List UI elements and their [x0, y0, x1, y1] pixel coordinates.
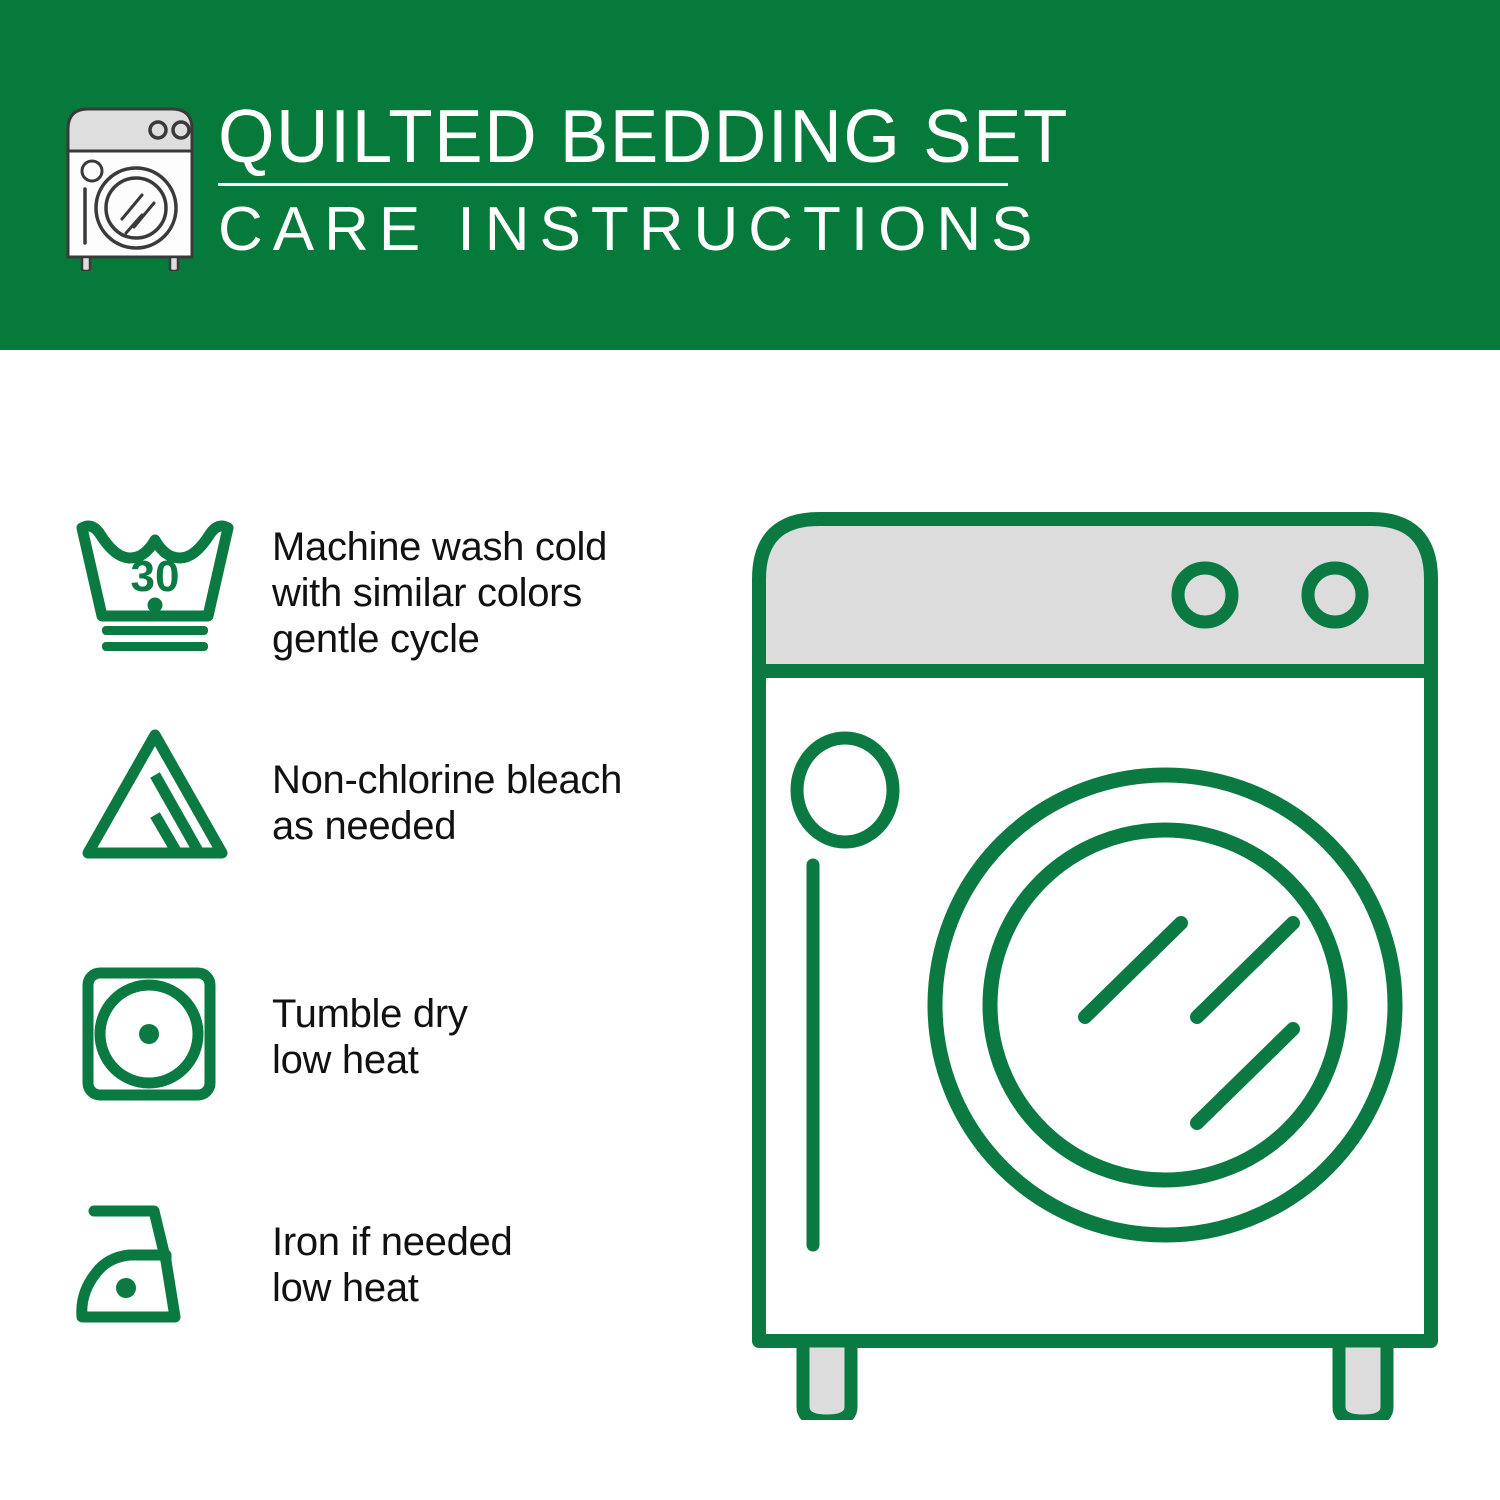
door-inner-ring	[990, 830, 1340, 1180]
care-instructions-page: QUILTED BEDDING SET CARE INSTRUCTIONS 30	[0, 0, 1500, 1500]
wash-temperature-label: 30	[131, 552, 180, 601]
page-title: QUILTED BEDDING SET	[218, 96, 994, 176]
tumble-dry-low-heat-icon	[70, 953, 240, 1111]
care-line: with similar colors	[272, 570, 607, 616]
door-outer-ring	[935, 775, 1395, 1235]
care-text-machine-wash: Machine wash cold with similar colors ge…	[272, 500, 607, 662]
bleach-triangle-non-chlorine-icon	[70, 715, 240, 873]
care-line: Iron if needed	[272, 1219, 512, 1265]
iron-low-heat-icon	[70, 1185, 240, 1343]
header-text-block: QUILTED BEDDING SET CARE INSTRUCTIONS	[218, 96, 1018, 265]
care-instruction-list: 30 Machine wash cold with similar colors…	[0, 500, 720, 1385]
care-line: Machine wash cold	[272, 524, 607, 570]
care-text-iron: Iron if needed low heat	[272, 1185, 512, 1311]
care-text-bleach: Non-chlorine bleach as needed	[272, 715, 622, 849]
care-line: low heat	[272, 1037, 468, 1083]
care-line: as needed	[272, 803, 622, 849]
washing-machine-icon	[60, 103, 200, 271]
care-row-iron: Iron if needed low heat	[0, 1185, 720, 1385]
care-line: Tumble dry	[272, 991, 468, 1037]
leg-left	[803, 1341, 851, 1420]
care-line: Non-chlorine bleach	[272, 757, 622, 803]
page-subtitle: CARE INSTRUCTIONS	[218, 195, 1018, 265]
care-row-bleach: Non-chlorine bleach as needed	[0, 715, 720, 953]
front-load-washing-machine-illustration	[745, 505, 1445, 1420]
care-line: low heat	[272, 1265, 512, 1311]
control-panel	[759, 519, 1431, 671]
detergent-knob	[797, 738, 893, 842]
header-banner: QUILTED BEDDING SET CARE INSTRUCTIONS	[0, 0, 1500, 350]
care-text-tumble-dry: Tumble dry low heat	[272, 953, 468, 1083]
header-divider	[218, 183, 1008, 186]
care-row-machine-wash: 30 Machine wash cold with similar colors…	[0, 500, 720, 715]
wash-tub-30-gentle-icon: 30	[70, 500, 240, 658]
door-motion-lines	[1085, 923, 1293, 1123]
care-row-tumble-dry: Tumble dry low heat	[0, 953, 720, 1185]
care-line: gentle cycle	[272, 616, 607, 662]
leg-right	[1339, 1341, 1387, 1420]
